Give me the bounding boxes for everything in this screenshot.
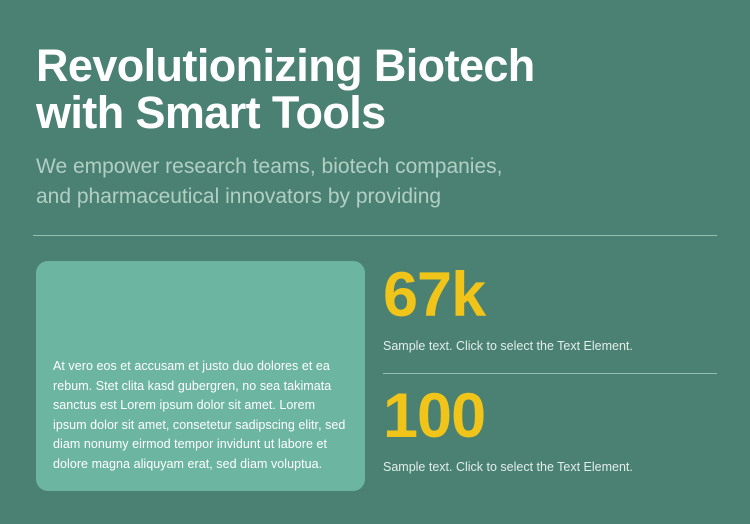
description-card: At vero eos et accusam et justo duo dolo… — [36, 261, 365, 491]
stat-caption-1[interactable]: Sample text. Click to select the Text El… — [383, 328, 717, 355]
stats-column: 67k Sample text. Click to select the Tex… — [383, 262, 717, 476]
stat-value-1: 67k — [383, 262, 717, 328]
stat-value-2: 100 — [383, 383, 717, 449]
landing-hero-page: Revolutionizing Biotech with Smart Tools… — [0, 0, 750, 524]
page-title: Revolutionizing Biotech with Smart Tools — [36, 42, 716, 136]
section-divider-top — [33, 235, 717, 236]
hero-section: Revolutionizing Biotech with Smart Tools… — [36, 42, 716, 212]
stat-item-1: 67k Sample text. Click to select the Tex… — [383, 262, 717, 355]
stat-caption-2[interactable]: Sample text. Click to select the Text El… — [383, 449, 717, 476]
stat-item-2: 100 Sample text. Click to select the Tex… — [383, 383, 717, 476]
stats-divider — [383, 373, 717, 374]
description-card-body: At vero eos et accusam et justo duo dolo… — [53, 357, 348, 474]
hero-subheading: We empower research teams, biotech compa… — [36, 136, 716, 212]
